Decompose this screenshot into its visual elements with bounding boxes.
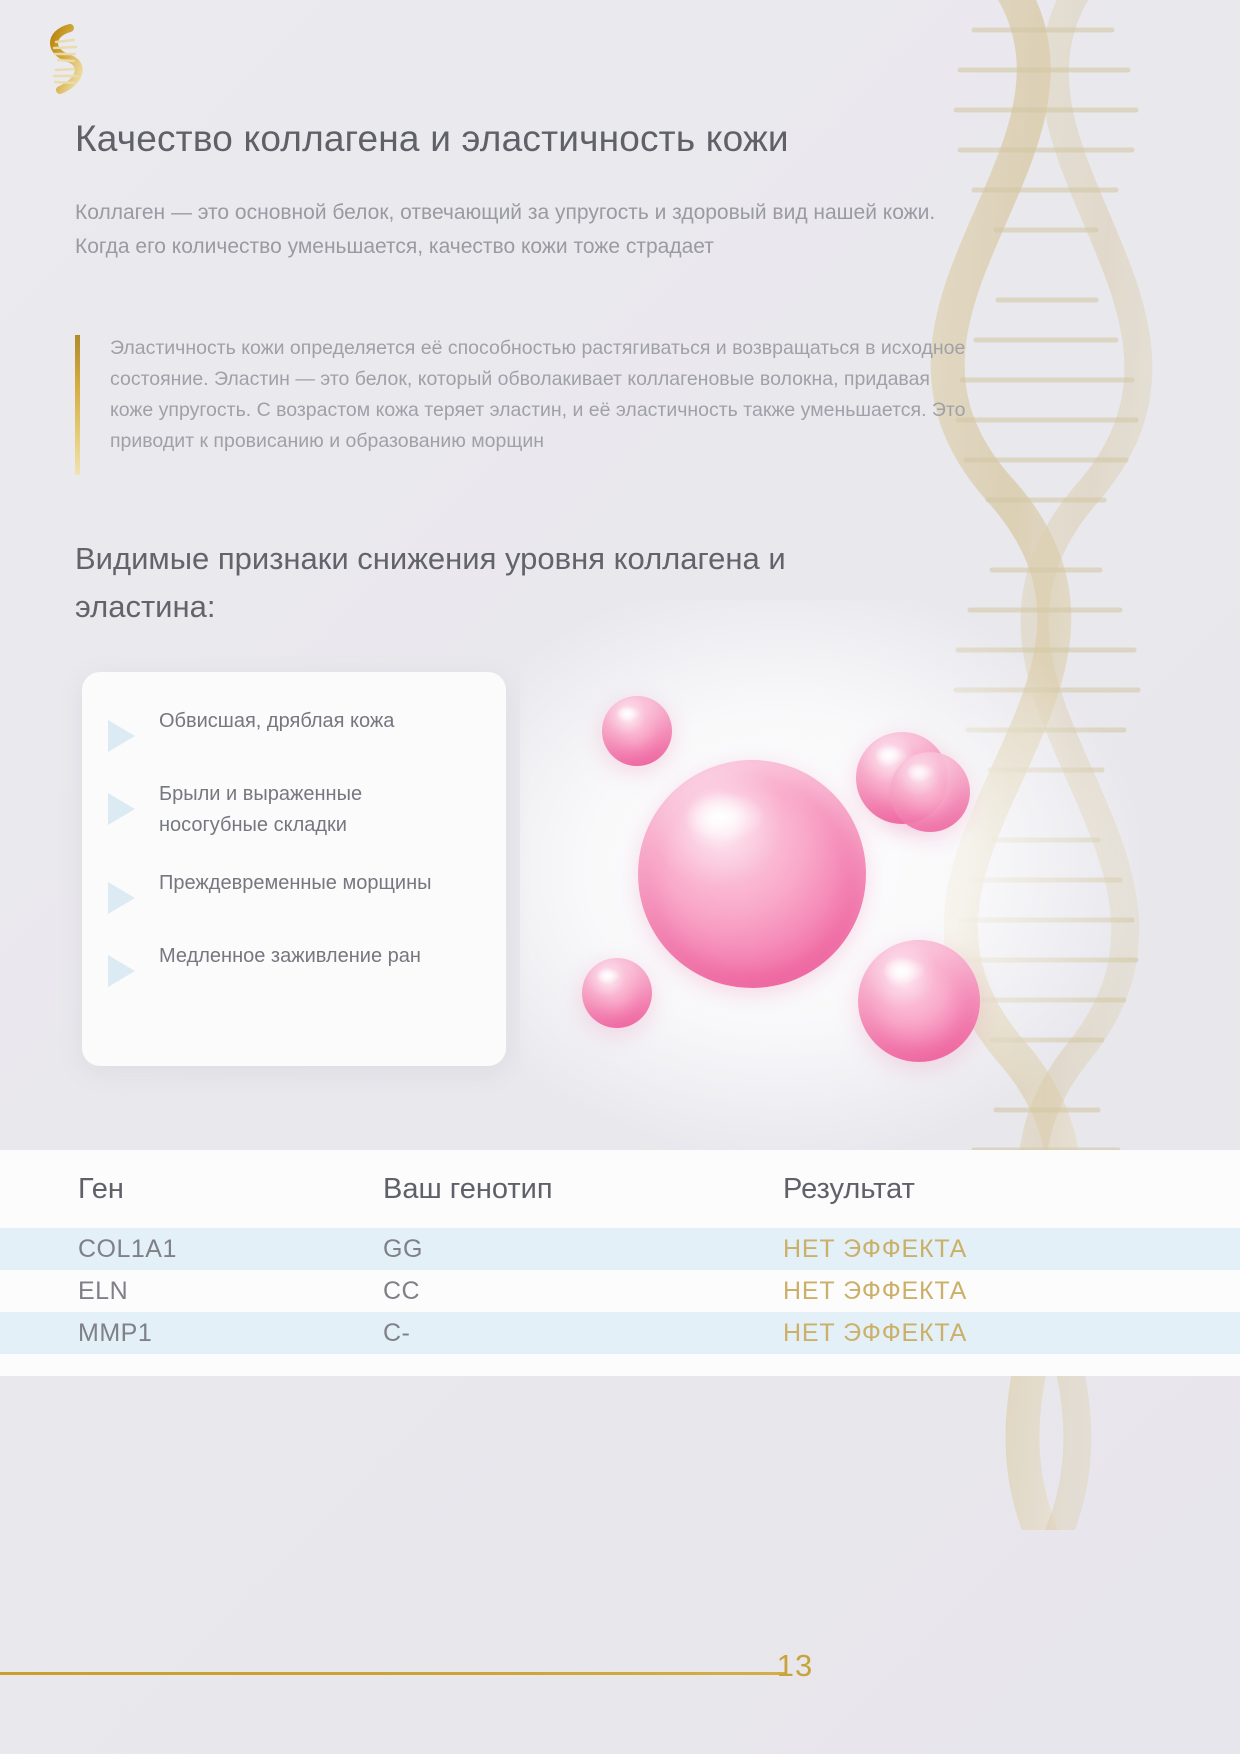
section-subtitle: Видимые признаки снижения уровня коллаге… bbox=[75, 535, 875, 631]
dna-helix-icon bbox=[30, 20, 94, 98]
intro-paragraph: Коллаген — это основной белок, отвечающи… bbox=[75, 196, 975, 264]
status-badge: НЕТ ЭФФЕКТА bbox=[783, 1319, 1180, 1348]
elasticity-callout: Эластичность кожи определяется её способ… bbox=[75, 333, 975, 457]
list-item: Обвисшая, дряблая кожа bbox=[108, 706, 480, 752]
footer-divider bbox=[0, 1672, 785, 1675]
bubble-bottom-left bbox=[582, 958, 652, 1028]
column-header-genotype: Ваш генотип bbox=[383, 1173, 783, 1206]
list-item: Преждевременные морщины bbox=[108, 868, 480, 914]
list-item-label: Брыли и выраженные носогубные складки bbox=[159, 779, 469, 841]
page-title: Качество коллагена и эластичность кожи bbox=[75, 118, 1015, 160]
cell-genotype: C- bbox=[383, 1319, 783, 1348]
page-number: 13 bbox=[735, 1648, 855, 1684]
symptoms-card: Обвисшая, дряблая кожа Брыли и выраженны… bbox=[82, 672, 506, 1066]
genotype-results-table: Ген Ваш генотип Результат COL1A1 GG НЕТ … bbox=[0, 1150, 1240, 1376]
bubble-main bbox=[638, 760, 866, 988]
bubble-glow bbox=[520, 600, 1140, 1160]
list-item: Медленное заживление ран bbox=[108, 941, 480, 987]
bubble-small-top-left bbox=[602, 696, 672, 766]
cell-gene: COL1A1 bbox=[78, 1235, 383, 1264]
list-item-label: Медленное заживление ран bbox=[159, 941, 421, 972]
triangle-right-icon bbox=[108, 882, 135, 914]
list-item-label: Обвисшая, дряблая кожа bbox=[159, 706, 394, 737]
cell-gene: ELN bbox=[78, 1277, 383, 1306]
cell-genotype: CC bbox=[383, 1277, 783, 1306]
bubble-top-right-inner bbox=[890, 752, 970, 832]
column-header-gene: Ген bbox=[78, 1173, 383, 1206]
report-page: Качество коллагена и эластичность кожи К… bbox=[0, 0, 1240, 1754]
triangle-right-icon bbox=[108, 793, 135, 825]
table-row: MMP1 C- НЕТ ЭФФЕКТА bbox=[0, 1312, 1240, 1354]
column-header-result: Результат bbox=[783, 1173, 1180, 1206]
elasticity-callout-text: Эластичность кожи определяется её способ… bbox=[110, 337, 966, 452]
table-header-row: Ген Ваш генотип Результат bbox=[0, 1150, 1240, 1228]
triangle-right-icon bbox=[108, 720, 135, 752]
cell-genotype: GG bbox=[383, 1235, 783, 1264]
bubble-bottom-right bbox=[858, 940, 980, 1062]
status-badge: НЕТ ЭФФЕКТА bbox=[783, 1277, 1180, 1306]
pink-collagen-bubbles bbox=[520, 640, 1160, 1110]
bubble-top-right bbox=[856, 732, 948, 824]
list-item-label: Преждевременные морщины bbox=[159, 868, 432, 899]
table-row: ELN CC НЕТ ЭФФЕКТА bbox=[0, 1270, 1240, 1312]
cell-gene: MMP1 bbox=[78, 1319, 383, 1348]
status-badge: НЕТ ЭФФЕКТА bbox=[783, 1235, 1180, 1264]
list-item: Брыли и выраженные носогубные складки bbox=[108, 779, 480, 841]
triangle-right-icon bbox=[108, 955, 135, 987]
table-row: COL1A1 GG НЕТ ЭФФЕКТА bbox=[0, 1228, 1240, 1270]
